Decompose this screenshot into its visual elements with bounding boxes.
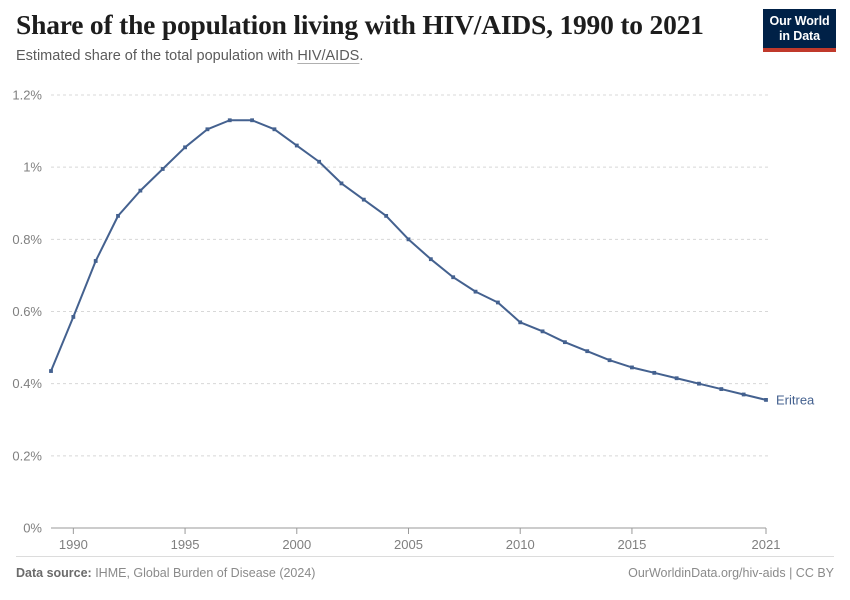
- series-data-point[interactable]: [116, 214, 120, 218]
- series-data-point[interactable]: [451, 275, 455, 279]
- series-data-point[interactable]: [608, 358, 612, 362]
- series-data-point[interactable]: [161, 167, 165, 171]
- gridlines-group: [51, 95, 771, 456]
- subtitle-suffix: .: [359, 48, 363, 64]
- x-axis-tick-label: 2010: [506, 537, 535, 552]
- data-source-label: Data source:: [16, 566, 92, 580]
- series-data-point[interactable]: [206, 127, 210, 131]
- chart-footer: Data source: IHME, Global Burden of Dise…: [16, 556, 834, 586]
- x-axis-tick-label: 2021: [752, 537, 781, 552]
- series-data-point[interactable]: [317, 160, 321, 164]
- series-data-point[interactable]: [295, 144, 299, 148]
- y-axis-tick-label: 0.6%: [12, 304, 42, 319]
- y-axis-tick-label: 0.8%: [12, 232, 42, 247]
- our-world-in-data-logo[interactable]: Our World in Data: [763, 9, 836, 52]
- y-axis-tick-label: 1%: [23, 160, 42, 175]
- y-axis-tick-labels: 0%0.2%0.4%0.6%0.8%1%1.2%: [12, 88, 42, 536]
- subtitle-prefix: Estimated share of the total population …: [16, 48, 297, 64]
- y-axis-tick-label: 1.2%: [12, 88, 42, 103]
- data-source-text: Data source: IHME, Global Burden of Dise…: [16, 566, 315, 580]
- series-data-point[interactable]: [697, 382, 701, 386]
- logo-line-2: in Data: [779, 29, 820, 44]
- y-axis-tick-label: 0%: [23, 521, 42, 536]
- series-data-point[interactable]: [541, 329, 545, 333]
- chart-page: Share of the population living with HIV/…: [0, 0, 850, 600]
- series-data-point[interactable]: [496, 301, 500, 305]
- series-data-point[interactable]: [429, 257, 433, 261]
- x-axis-tick-label: 1995: [171, 537, 200, 552]
- hiv-aids-link[interactable]: HIV/AIDS: [297, 48, 359, 64]
- series-data-point[interactable]: [362, 198, 366, 202]
- series-data-point[interactable]: [742, 393, 746, 397]
- attribution-link[interactable]: OurWorldinData.org/hiv-aids | CC BY: [628, 566, 834, 580]
- chart-subtitle: Estimated share of the total population …: [16, 48, 834, 64]
- x-axis-tick-labels: 1990199520002005201020152021: [59, 537, 781, 552]
- series-data-point[interactable]: [183, 145, 187, 149]
- series-data-point[interactable]: [675, 376, 679, 380]
- chart-header: Share of the population living with HIV/…: [16, 10, 834, 72]
- x-axis-group: [51, 528, 766, 534]
- data-series-group: [49, 118, 768, 401]
- series-data-point[interactable]: [49, 369, 53, 373]
- series-data-point[interactable]: [384, 214, 388, 218]
- series-data-point[interactable]: [652, 371, 656, 375]
- chart-plot-area: 0%0.2%0.4%0.6%0.8%1%1.2% 199019952000200…: [0, 78, 850, 553]
- y-axis-tick-label: 0.2%: [12, 448, 42, 463]
- series-data-point[interactable]: [250, 118, 254, 122]
- x-axis-tick-label: 1990: [59, 537, 88, 552]
- series-data-point[interactable]: [71, 315, 75, 319]
- line-chart-svg: 0%0.2%0.4%0.6%0.8%1%1.2% 199019952000200…: [0, 78, 850, 553]
- series-data-point[interactable]: [474, 290, 478, 294]
- page-title: Share of the population living with HIV/…: [16, 10, 834, 41]
- x-axis-tick-label: 2005: [394, 537, 423, 552]
- series-data-point[interactable]: [518, 320, 522, 324]
- series-data-point[interactable]: [340, 182, 344, 186]
- series-data-point[interactable]: [764, 398, 768, 402]
- series-data-point[interactable]: [228, 118, 232, 122]
- series-data-point[interactable]: [585, 349, 589, 353]
- series-data-point[interactable]: [719, 387, 723, 391]
- logo-line-1: Our World: [770, 14, 830, 29]
- series-data-point[interactable]: [138, 189, 142, 193]
- series-end-labels: Eritrea: [776, 392, 815, 407]
- x-axis-tick-label: 2000: [282, 537, 311, 552]
- series-data-point[interactable]: [94, 259, 98, 263]
- series-line[interactable]: [51, 120, 766, 400]
- y-axis-tick-label: 0.4%: [12, 376, 42, 391]
- data-source-value: IHME, Global Burden of Disease (2024): [92, 566, 316, 580]
- series-data-point[interactable]: [273, 127, 277, 131]
- series-data-point[interactable]: [563, 340, 567, 344]
- x-axis-tick-label: 2015: [617, 537, 646, 552]
- series-data-point[interactable]: [630, 366, 634, 370]
- series-label-eritrea[interactable]: Eritrea: [776, 392, 815, 407]
- series-data-point[interactable]: [407, 237, 411, 241]
